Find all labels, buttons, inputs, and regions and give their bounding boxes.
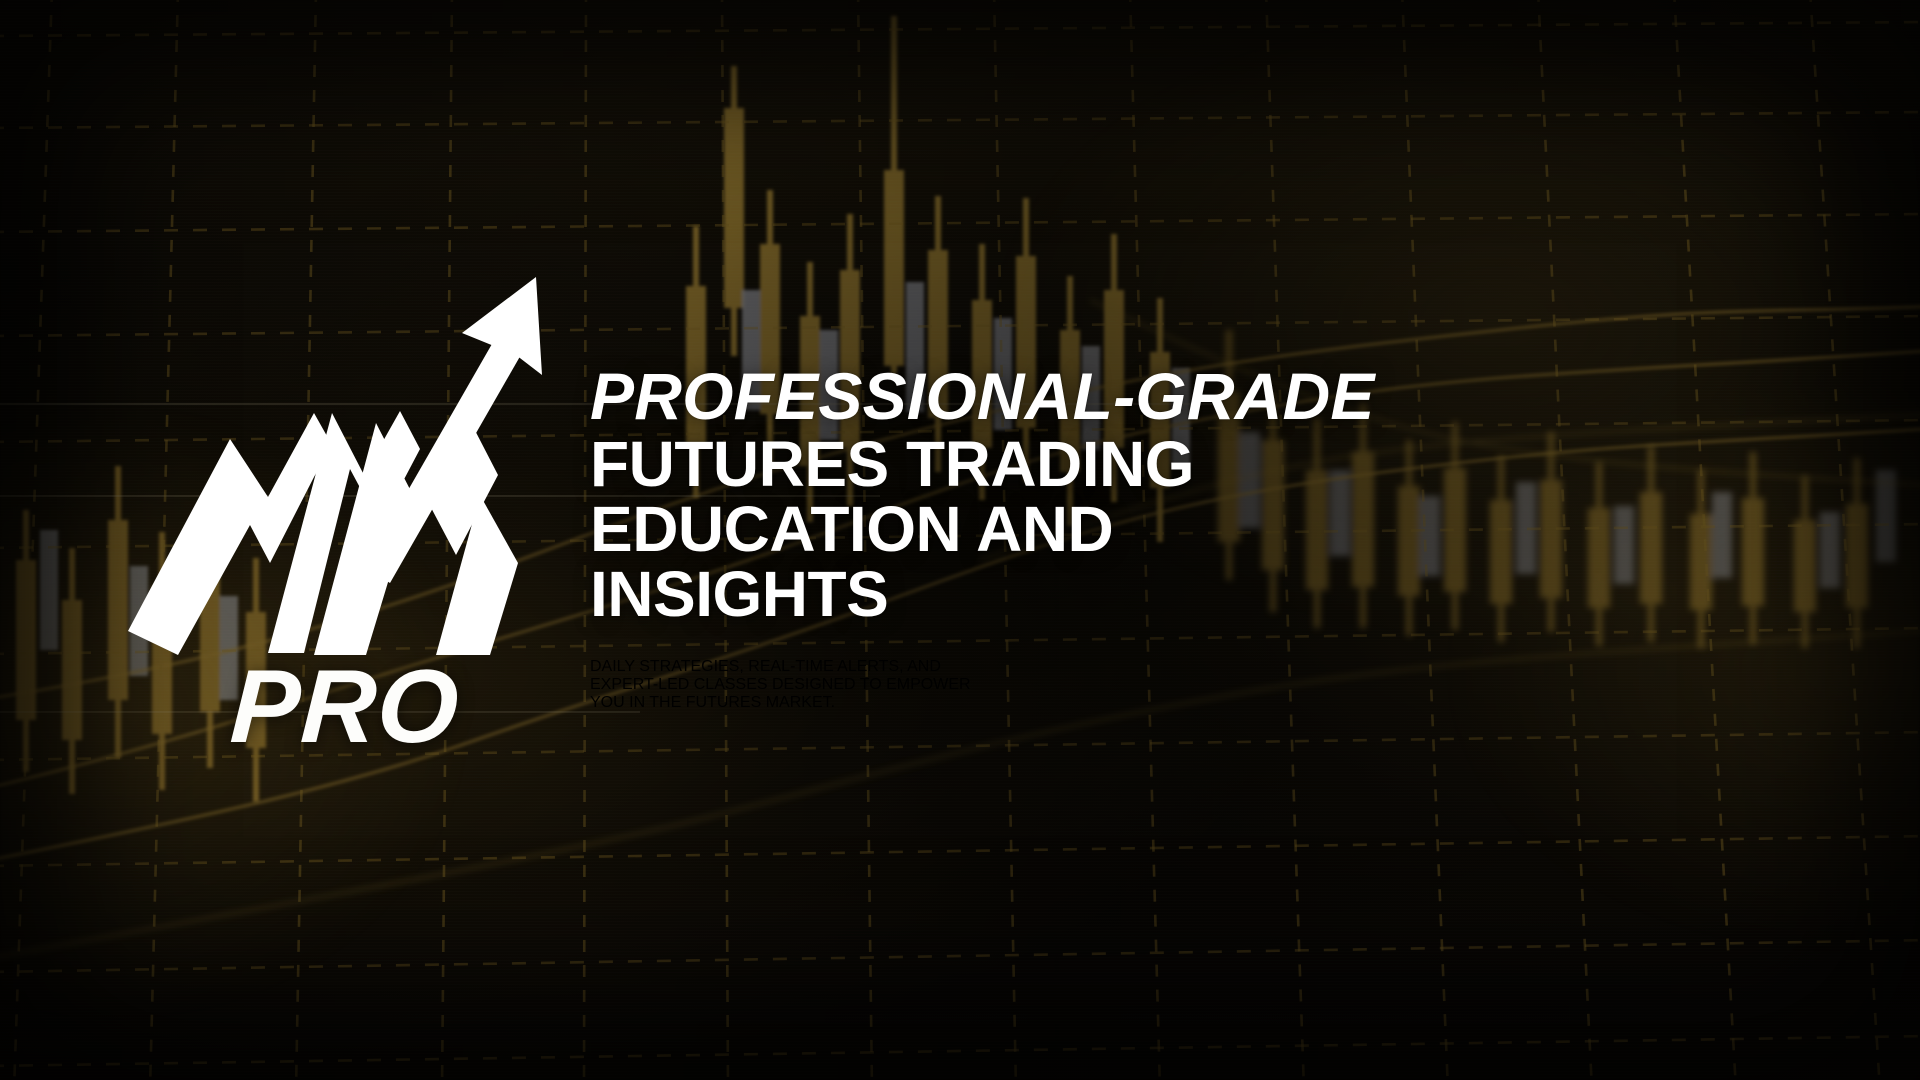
subtitle-line-1: DAILY STRATEGIES, REAL-TIME ALERTS, AND	[590, 658, 1530, 676]
headline-line-2: FUTURES TRADING	[590, 431, 1530, 498]
hero-banner: PRO PROFESSIONAL-GRADE FUTURES TRADING E…	[0, 0, 1920, 1080]
hero-copy: PROFESSIONAL-GRADE FUTURES TRADING EDUCA…	[590, 362, 1530, 712]
subtitle-line-2: EXPERT-LED CLASSES DESIGNED TO EMPOWER	[590, 676, 1530, 694]
headline-line-1: PROFESSIONAL-GRADE	[590, 362, 1530, 431]
subtitle-line-3: YOU IN THE FUTURES MARKET.	[590, 694, 1530, 712]
upward-trend-arrow-chart-icon	[118, 263, 548, 683]
brand-logo: PRO	[118, 263, 548, 823]
headline-rest: FUTURES TRADING EDUCATION AND INSIGHTS	[590, 431, 1530, 628]
headline-line-3: EDUCATION AND	[590, 496, 1530, 563]
headline-line-4: INSIGHTS	[590, 561, 1530, 628]
hero-content: PRO PROFESSIONAL-GRADE FUTURES TRADING E…	[0, 0, 1920, 1080]
page-title: PROFESSIONAL-GRADE FUTURES TRADING EDUCA…	[590, 362, 1530, 628]
brand-wordmark: PRO	[127, 655, 562, 759]
